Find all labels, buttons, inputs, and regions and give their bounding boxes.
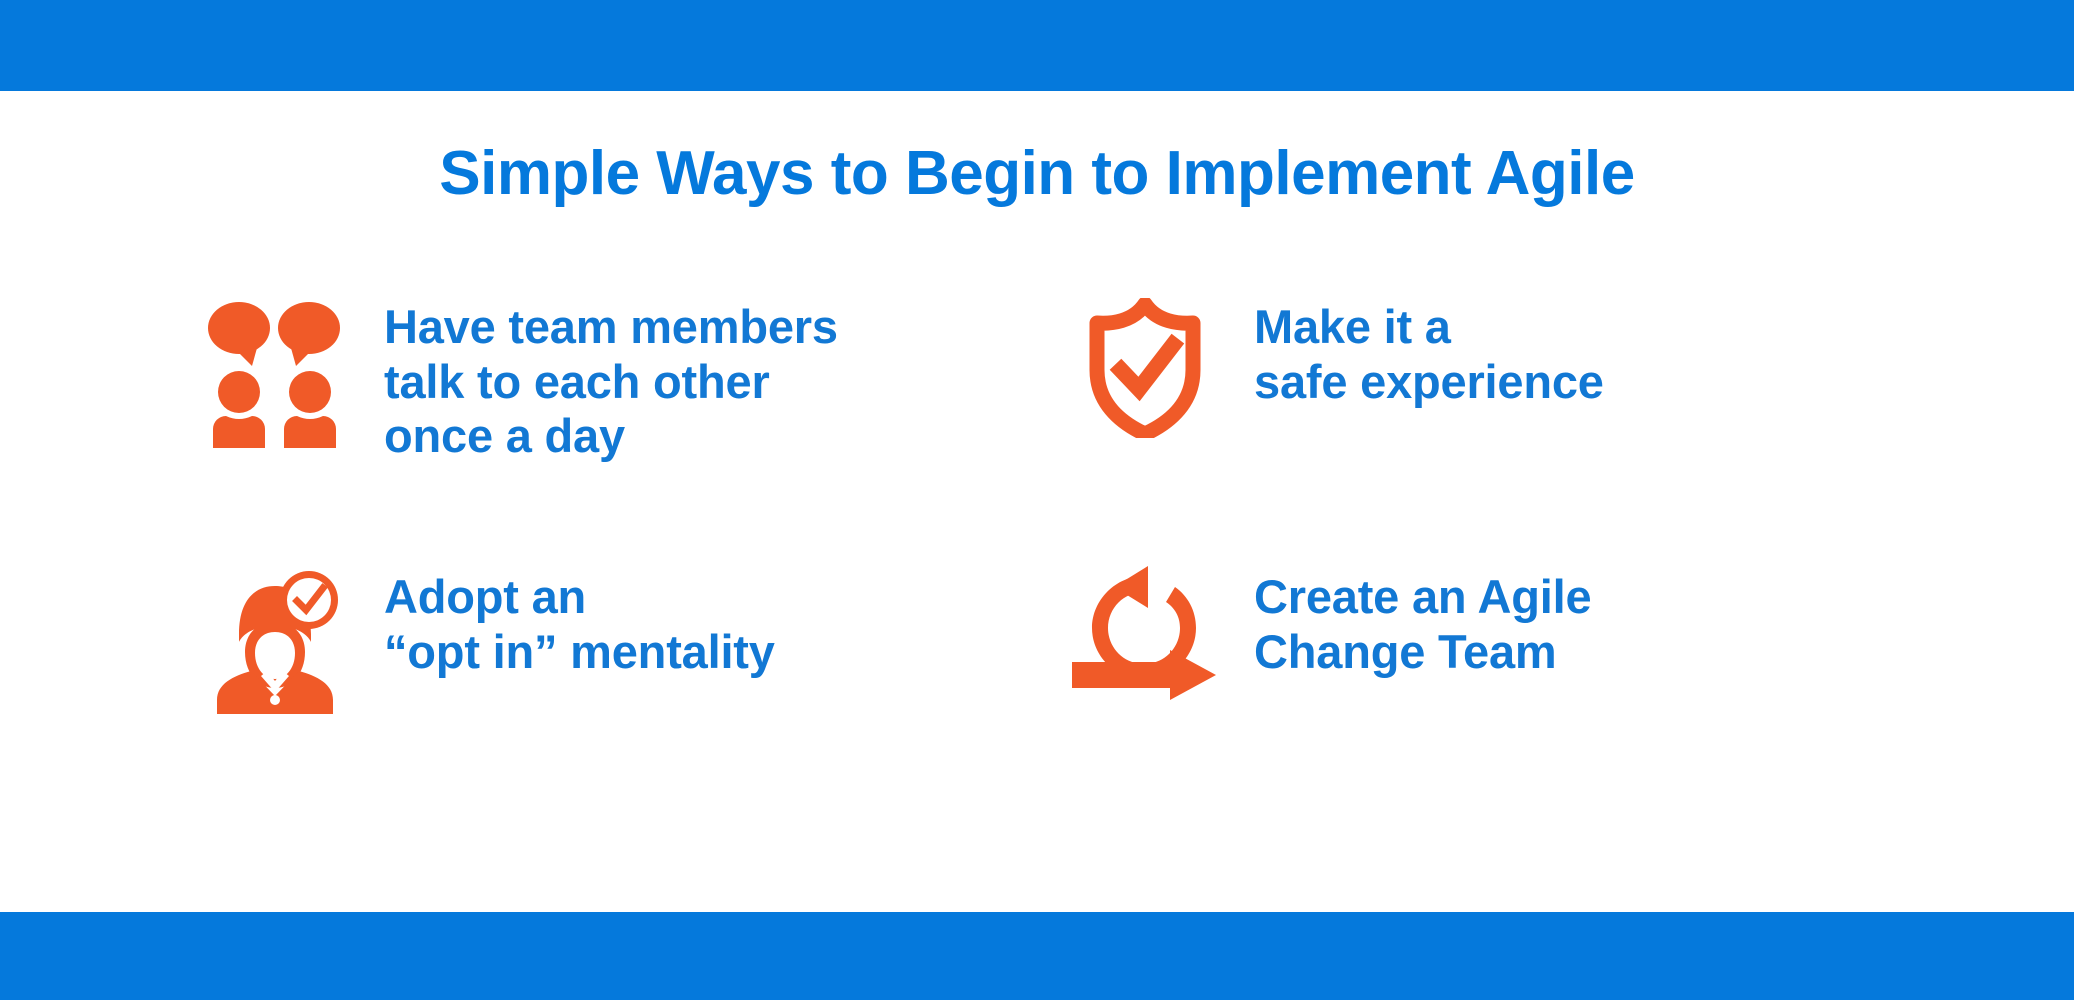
person-check-badge-icon	[200, 560, 350, 710]
shield-check-icon	[1070, 290, 1220, 440]
bottom-brand-bar	[0, 912, 2074, 1000]
tip-label-opt-in: Adopt an “opt in” mentality	[384, 560, 775, 679]
top-brand-bar	[0, 0, 2074, 91]
tip-item-safe-experience: Make it a safe experience	[1070, 290, 1920, 560]
two-people-talking-icon	[200, 290, 350, 440]
tip-item-opt-in: Adopt an “opt in” mentality	[200, 560, 1050, 830]
tip-item-agile-change-team: Create an Agile Change Team	[1070, 560, 1920, 830]
tip-label-safe-experience: Make it a safe experience	[1254, 290, 1604, 409]
tip-label-talk-daily: Have team members talk to each other onc…	[384, 290, 838, 464]
page-title: Simple Ways to Begin to Implement Agile	[0, 143, 2074, 205]
tips-grid: Have team members talk to each other onc…	[200, 290, 1920, 830]
tip-item-talk-daily: Have team members talk to each other onc…	[200, 290, 1050, 560]
infographic-slide: Simple Ways to Begin to Implement Agile	[0, 0, 2074, 1000]
agile-sprint-loop-icon	[1070, 560, 1220, 710]
tip-label-agile-change-team: Create an Agile Change Team	[1254, 560, 1591, 679]
